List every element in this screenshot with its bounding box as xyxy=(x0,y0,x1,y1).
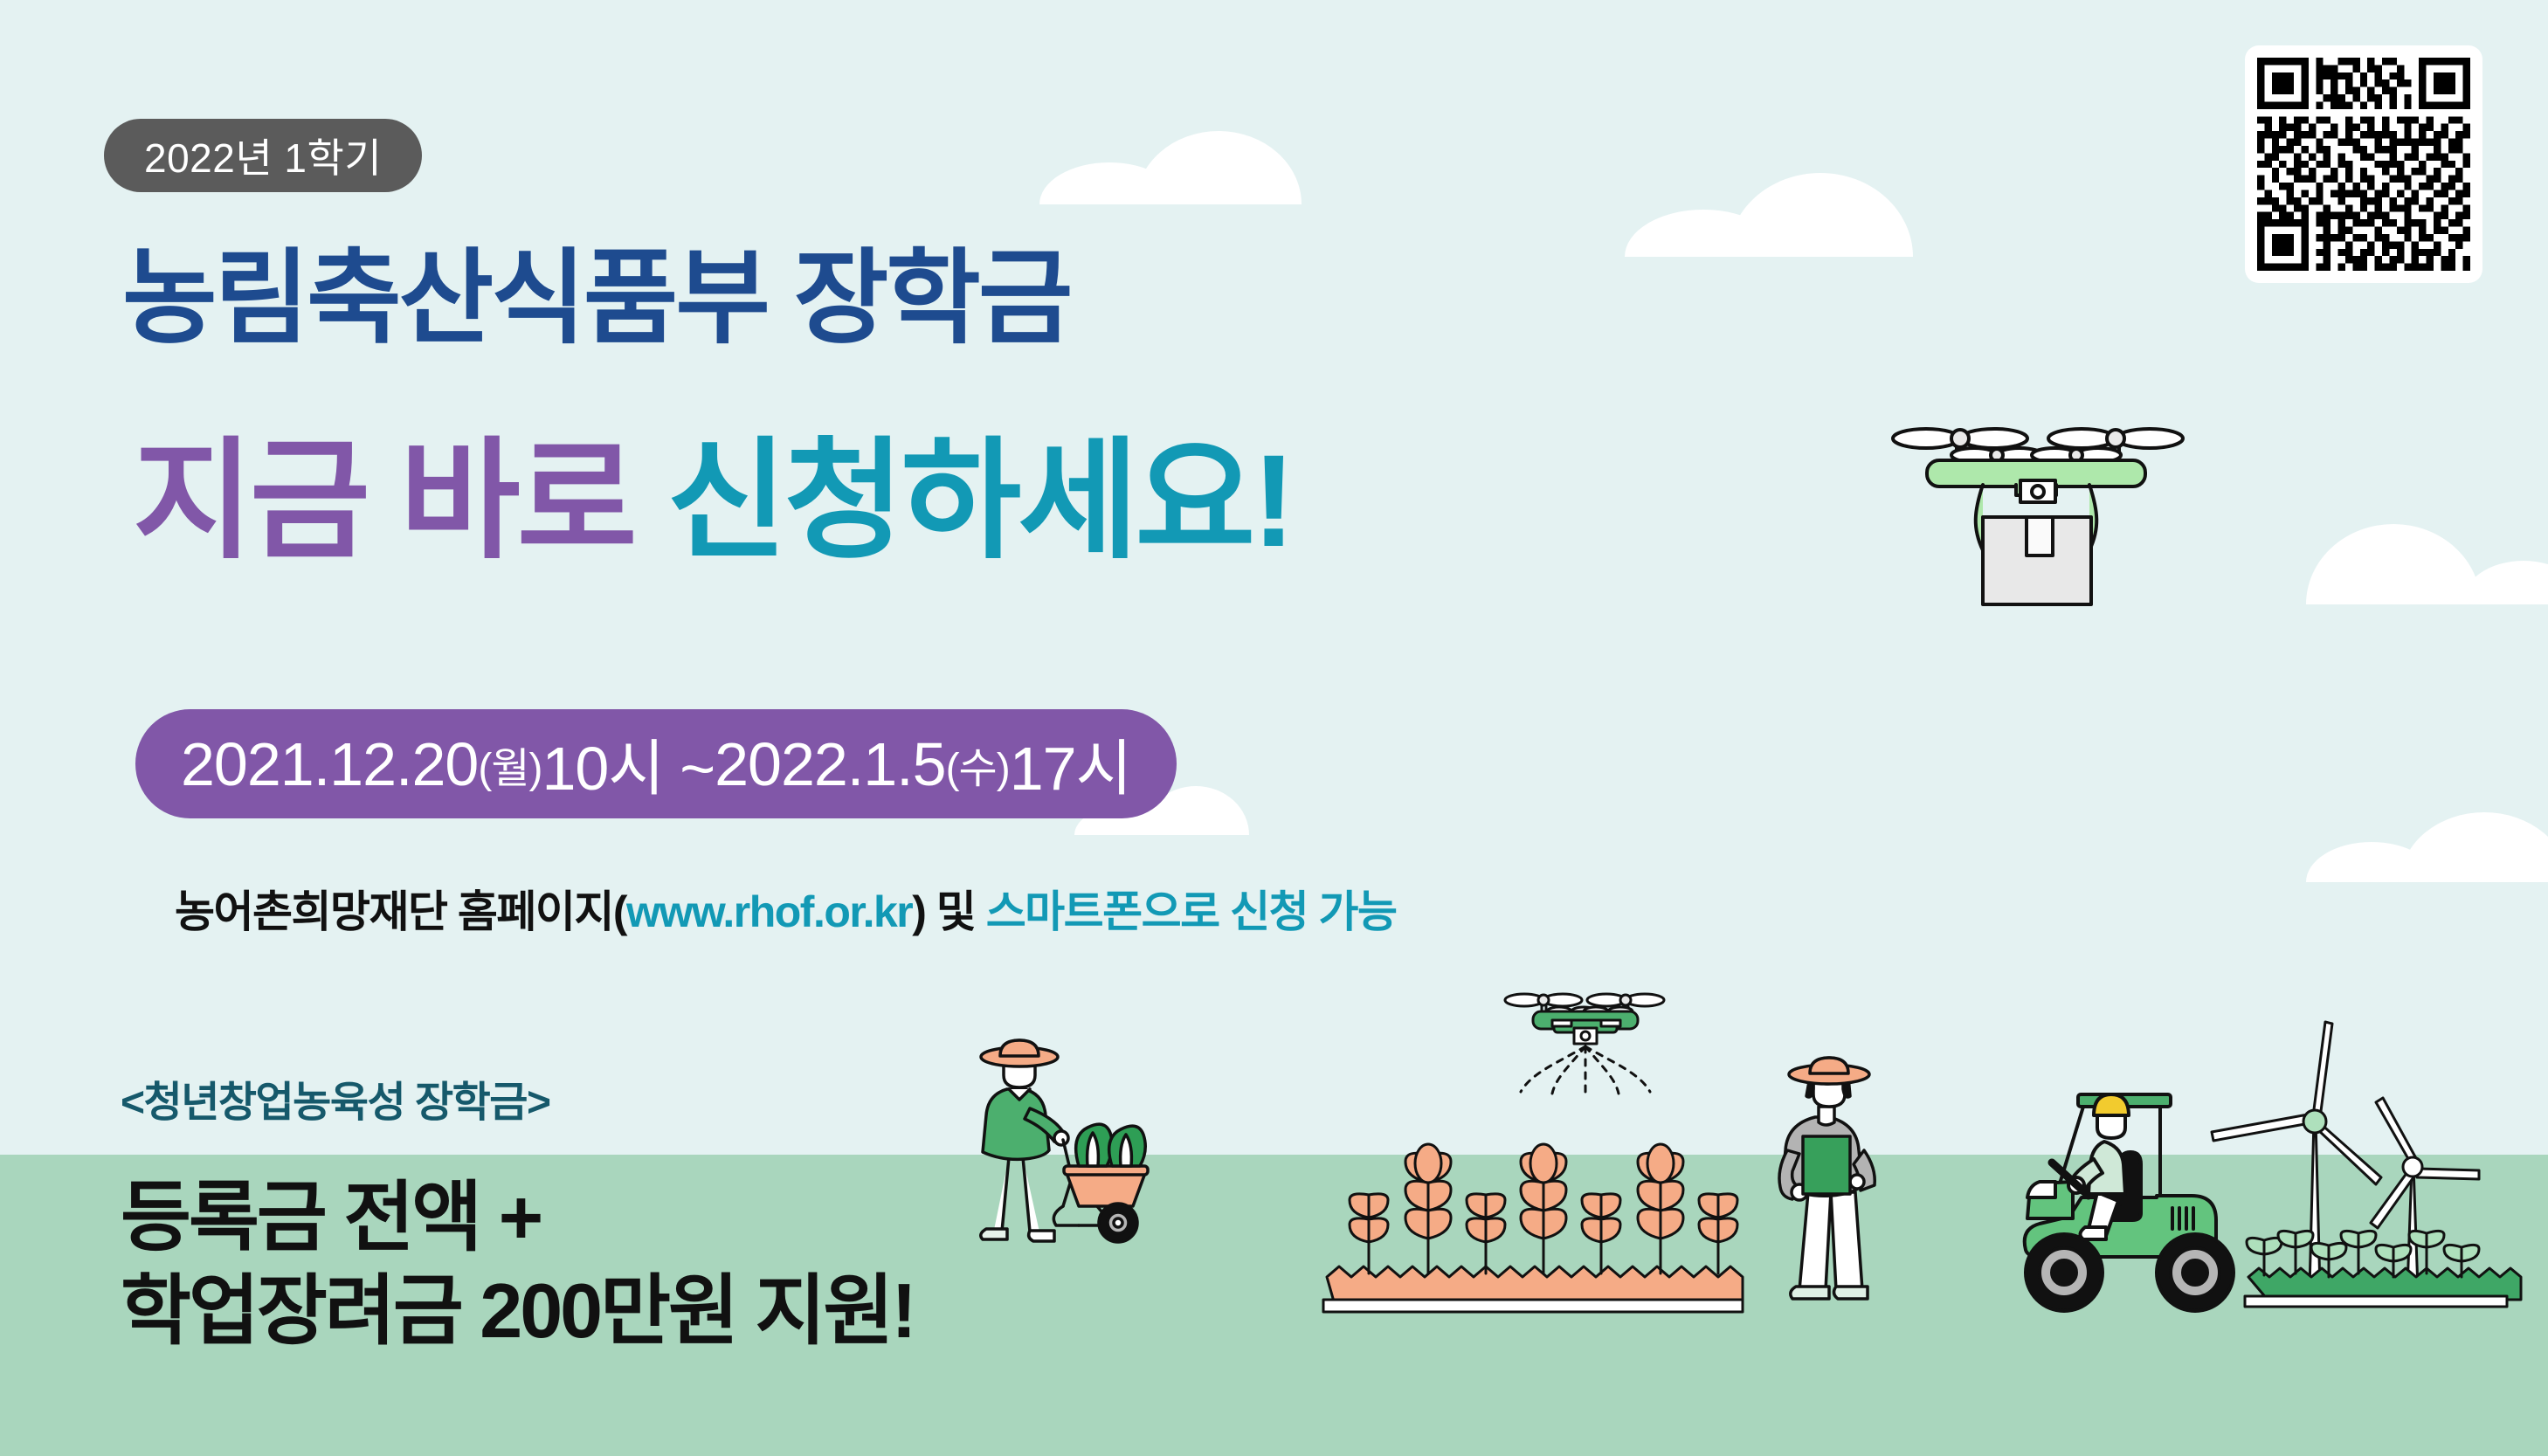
semester-badge: 2022년 1학기 xyxy=(104,119,422,192)
period-end-day: (수) xyxy=(946,734,1010,795)
page-subtitle-part2: 신청하세요! xyxy=(666,427,1292,574)
wind-turbines-with-seedlings-illustration xyxy=(2245,1048,2542,1345)
scholarship-type-label: <청년창업농육성 장학금> xyxy=(121,1067,550,1128)
period-start-time: 10시 ~ xyxy=(542,720,715,808)
period-start-day: (월) xyxy=(478,734,542,795)
page-subtitle: 지금 바로 신청하세요! xyxy=(133,435,1292,566)
page-subtitle-part1: 지금 바로 xyxy=(133,427,666,574)
page-title: 농림축산식품부 장학금 xyxy=(122,247,1070,350)
benefit-line-1: 등록금 전액 + xyxy=(121,1170,915,1264)
site-note-highlight: 스마트폰으로 신청 가능 xyxy=(986,887,1397,936)
application-channel-note: 농어촌희망재단 홈페이지(www.rhof.or.kr) 및 스마트폰으로 신청… xyxy=(175,877,1396,940)
site-note-prefix: 농어촌희망재단 홈페이지( xyxy=(175,887,626,936)
site-note-middle: ) 및 xyxy=(912,887,985,936)
spraying-drone-over-wheat-field-illustration xyxy=(1315,970,1760,1336)
qr-code[interactable] xyxy=(2245,45,2482,283)
benefit-text: 등록금 전액 + 학업장려금 200만원 지원! xyxy=(121,1170,915,1358)
benefit-line-2: 학업장려금 200만원 지원! xyxy=(121,1264,915,1357)
woman-farmer-with-tablet-illustration xyxy=(1773,1052,1965,1323)
foundation-website-link[interactable]: www.rhof.or.kr xyxy=(626,887,912,936)
farmer-pushing-wheelbarrow-illustration xyxy=(939,1035,1201,1306)
application-period-pill: 2021.12.20(월) 10시 ~ 2022.1.5(수) 17시 xyxy=(135,709,1177,818)
period-end-time: 17시 xyxy=(1010,720,1131,808)
delivery-drone-with-parcel-illustration xyxy=(1861,397,2210,668)
period-end-date: 2022.1.5 xyxy=(715,729,945,799)
period-start-date: 2021.12.20 xyxy=(181,729,478,799)
poster-root: 2022년 1학기 농림축산식품부 장학금 지금 바로 신청하세요! 2021.… xyxy=(0,0,2548,1456)
